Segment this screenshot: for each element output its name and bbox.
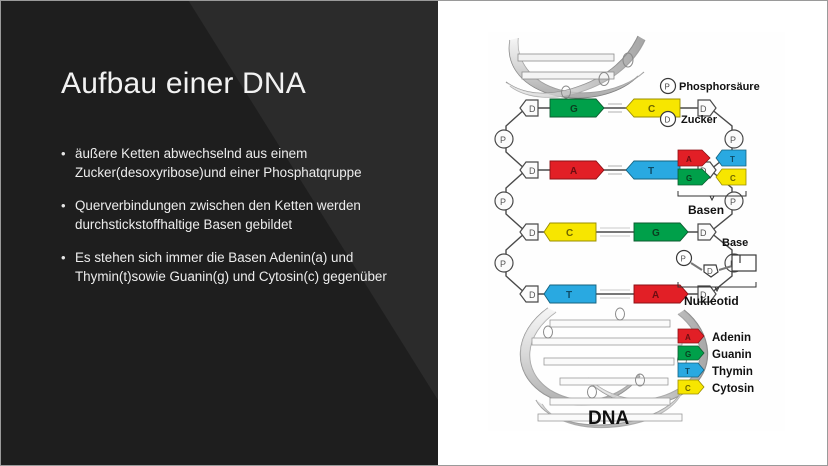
base-letter: A xyxy=(570,166,577,177)
phosphate-symbol: P xyxy=(500,135,506,145)
base-letter: T xyxy=(685,367,690,376)
base-letter: C xyxy=(648,104,655,115)
legend-label: Base xyxy=(722,237,748,249)
phosphate-symbol: P xyxy=(500,197,506,207)
list-item: • Es stehen sich immer die Basen Adenin(… xyxy=(61,248,401,286)
legend-label: Basen xyxy=(688,203,724,217)
base-letter: G xyxy=(652,228,660,239)
sugar-symbol: D xyxy=(529,290,536,300)
sugar-symbol: D xyxy=(707,267,713,276)
legend-phosphorsaeure: P Phosphorsäure xyxy=(661,79,760,94)
figure-panel: D P G C D P xyxy=(438,1,828,466)
base-block-a xyxy=(678,329,704,343)
list-item: • äußere Ketten abwechselnd aus einem Zu… xyxy=(61,144,401,182)
phosphate-symbol: P xyxy=(730,197,736,207)
base-letter: G xyxy=(686,174,692,183)
legend-label: Cytosin xyxy=(712,383,754,395)
dna-figure: D P G C D P xyxy=(488,32,785,431)
bullet-text: Es stehen sich immer die Basen Adenin(a)… xyxy=(75,248,401,286)
base-block-a xyxy=(634,285,688,303)
legend-nukleotid: Base P D Nukleotid xyxy=(677,237,757,308)
figure-caption: DNA xyxy=(588,408,629,429)
slide: Aufbau einer DNA • äußere Ketten abwechs… xyxy=(0,0,828,466)
dna-diagram-svg: D P G C D P xyxy=(488,32,785,431)
base-block-g xyxy=(634,223,688,241)
sugar-symbol: D xyxy=(529,104,536,114)
base-block-t xyxy=(678,363,704,377)
list-item: G Guanin xyxy=(678,346,752,361)
sugar-symbol: D xyxy=(700,104,707,114)
list-item: A Adenin xyxy=(678,329,751,344)
list-item: C Cytosin xyxy=(678,380,754,395)
base-letter: T xyxy=(730,155,735,164)
legend-label: Nukleotid xyxy=(684,294,739,308)
legend-base-key: A Adenin G Guanin T Thymin xyxy=(678,329,754,395)
bullet-marker-icon: • xyxy=(61,248,75,267)
bullet-text: Querverbindungen zwischen den Ketten wer… xyxy=(75,196,401,234)
legend-label: Phosphorsäure xyxy=(679,81,760,93)
helix-top-graphic xyxy=(506,36,645,98)
base-letter: T xyxy=(566,290,572,301)
base-letter: C xyxy=(685,384,691,393)
legend-zucker: D Zucker xyxy=(661,112,718,127)
base-letter: A xyxy=(686,155,692,164)
legend-label: Guanin xyxy=(712,349,752,361)
legend-label: Thymin xyxy=(712,366,753,378)
sugar-symbol: D xyxy=(700,228,707,238)
base-letter: C xyxy=(730,174,736,183)
bullet-list: • äußere Ketten abwechselnd aus einem Zu… xyxy=(61,144,401,300)
legend-label: Zucker xyxy=(681,114,718,126)
base-block-c xyxy=(678,380,704,394)
phosphate-symbol: P xyxy=(681,255,686,264)
page-title: Aufbau einer DNA xyxy=(61,67,306,102)
sugar-symbol: D xyxy=(665,116,671,125)
base-letter: C xyxy=(566,228,573,239)
bullet-marker-icon: • xyxy=(61,196,75,215)
phosphate-symbol: P xyxy=(665,83,670,92)
base-letter: T xyxy=(648,166,654,177)
phosphate-symbol: P xyxy=(730,135,736,145)
list-item: • Querverbindungen zwischen den Ketten w… xyxy=(61,196,401,234)
bullet-marker-icon: • xyxy=(61,144,75,163)
list-item: T Thymin xyxy=(678,363,753,378)
base-letter: A xyxy=(652,290,659,301)
legend-label: Adenin xyxy=(712,332,751,344)
phosphate-symbol: P xyxy=(500,259,506,269)
sugar-symbol: D xyxy=(529,228,536,238)
sugar-symbol: D xyxy=(529,166,536,176)
base-letter: G xyxy=(570,104,578,115)
base-letter: A xyxy=(685,333,691,342)
base-letter: G xyxy=(685,350,691,359)
bullet-text: äußere Ketten abwechselnd aus einem Zuck… xyxy=(75,144,401,182)
